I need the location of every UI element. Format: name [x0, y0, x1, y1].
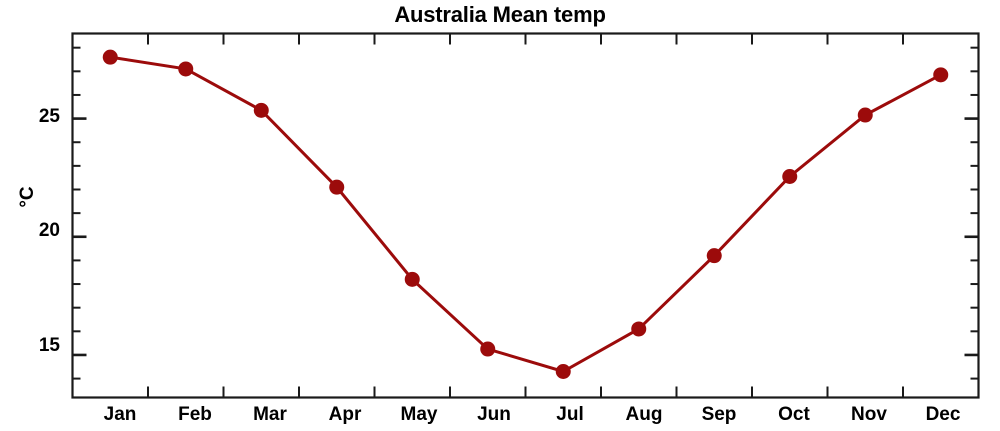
data-point-jul	[556, 364, 571, 379]
chart-figure: Australia Mean temp °C 25 20 15 Jan Feb …	[0, 0, 1000, 431]
x-axis-ticks	[148, 34, 903, 398]
data-series-markers	[103, 50, 949, 379]
data-point-aug	[631, 321, 646, 336]
data-point-feb	[178, 61, 193, 76]
data-point-nov	[858, 108, 873, 123]
data-point-sep	[707, 248, 722, 263]
plot-area	[0, 0, 1000, 431]
data-point-may	[405, 272, 420, 287]
data-point-oct	[782, 169, 797, 184]
y-axis-ticks	[73, 48, 979, 379]
data-point-mar	[254, 103, 269, 118]
data-point-jan	[103, 50, 118, 65]
plot-frame	[73, 34, 979, 398]
data-point-apr	[329, 180, 344, 195]
data-series-line	[110, 57, 941, 371]
data-point-jun	[480, 342, 495, 357]
data-point-dec	[933, 67, 948, 82]
